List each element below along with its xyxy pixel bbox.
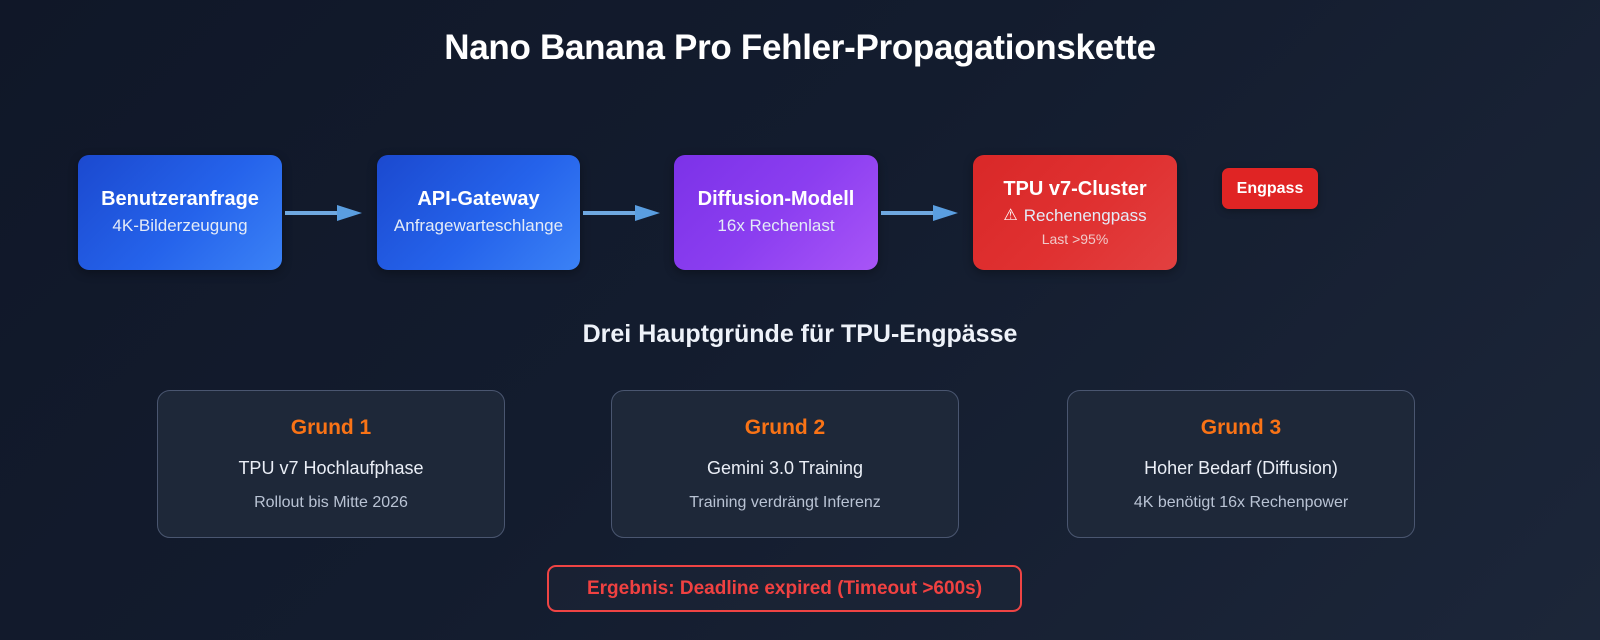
flow-node-title: TPU v7-Cluster [1003, 177, 1146, 201]
reason-card-main: Hoher Bedarf (Diffusion) [1144, 457, 1338, 480]
reason-card-list: Grund 1 TPU v7 Hochlaufphase Rollout bis… [157, 390, 1417, 538]
arrow-line [285, 211, 339, 215]
result-banner: Ergebnis: Deadline expired (Timeout >600… [547, 565, 1022, 612]
reason-card-sub: Training verdrängt Inferenz [689, 493, 881, 513]
reason-card-sub: 4K benötigt 16x Rechenpower [1134, 493, 1348, 513]
arrow-head [337, 205, 362, 221]
flow-node-tpu-cluster[interactable]: TPU v7-Cluster ⚠ Rechenengpass Last >95% [973, 155, 1177, 270]
section-heading: Drei Hauptgründe für TPU-Engpässe [0, 320, 1600, 349]
flow-node-api-gateway[interactable]: API-Gateway Anfragewarteschlange [377, 155, 580, 270]
flow-node-detail: Last >95% [1042, 230, 1109, 248]
status-badge-engpass[interactable]: Engpass [1222, 168, 1318, 209]
reason-card-label: Grund 2 [745, 415, 826, 440]
flow-node-subtitle: 4K-Bilderzeugung [112, 215, 247, 238]
reason-card-label: Grund 3 [1201, 415, 1282, 440]
reason-card[interactable]: Grund 3 Hoher Bedarf (Diffusion) 4K benö… [1067, 390, 1415, 538]
arrow-head [933, 205, 958, 221]
flow-node-diffusion-modell[interactable]: Diffusion-Modell 16x Rechenlast [674, 155, 878, 270]
reason-card-main: Gemini 3.0 Training [707, 457, 863, 480]
arrow-right-icon [583, 205, 664, 221]
reason-card-sub: Rollout bis Mitte 2026 [254, 493, 408, 513]
arrow-right-icon [285, 205, 366, 221]
arrow-head [635, 205, 660, 221]
reason-card-label: Grund 1 [291, 415, 372, 440]
flow-node-title: Diffusion-Modell [698, 187, 855, 211]
flow-node-warning: ⚠ Rechenengpass [1003, 205, 1146, 228]
arrow-line [583, 211, 637, 215]
reason-card[interactable]: Grund 1 TPU v7 Hochlaufphase Rollout bis… [157, 390, 505, 538]
flow-node-benutzeranfrage[interactable]: Benutzeranfrage 4K-Bilderzeugung [78, 155, 282, 270]
flow-node-subtitle: 16x Rechenlast [717, 215, 834, 238]
warning-triangle-icon: ⚠ [1003, 208, 1017, 224]
flow-node-subtitle: Anfragewarteschlange [394, 215, 563, 238]
reason-card-main: TPU v7 Hochlaufphase [238, 457, 423, 480]
arrow-line [881, 211, 935, 215]
reason-card[interactable]: Grund 2 Gemini 3.0 Training Training ver… [611, 390, 959, 538]
flow-node-subtitle: Rechenengpass [1024, 205, 1147, 228]
flow-node-title: Benutzeranfrage [101, 187, 259, 211]
page-title: Nano Banana Pro Fehler-Propagationskette [0, 28, 1600, 68]
arrow-right-icon [881, 205, 962, 221]
flow-node-title: API-Gateway [417, 187, 539, 211]
flow-diagram: Benutzeranfrage 4K-Bilderzeugung API-Gat… [78, 155, 1528, 270]
